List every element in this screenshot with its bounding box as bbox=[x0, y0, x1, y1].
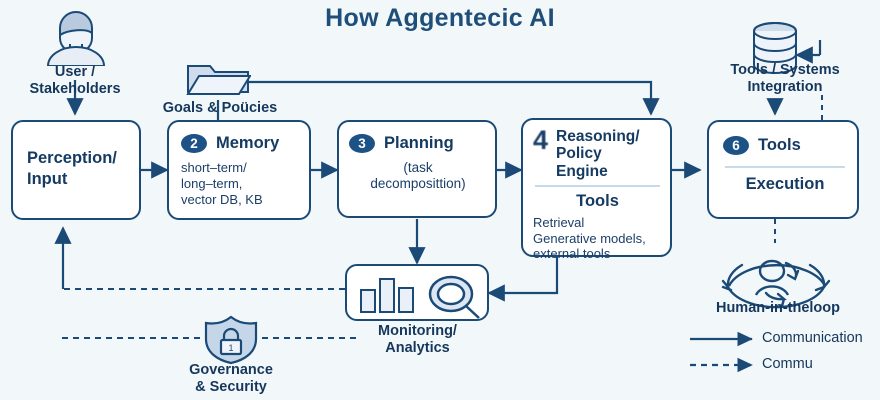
planning-badge: 3 bbox=[349, 134, 375, 153]
memory-title: Memory bbox=[216, 134, 279, 153]
tools-header: 6 Tools bbox=[723, 136, 847, 155]
integration-caption-line2: Integration bbox=[748, 79, 823, 95]
shield-lock-digit: 1 bbox=[228, 343, 233, 353]
tools-execution-box[interactable]: 6 Tools Execution bbox=[707, 120, 859, 219]
bar-chart-icon bbox=[359, 276, 417, 314]
monitoring-caption-line2: Analytics bbox=[385, 340, 449, 356]
user-avatar-icon bbox=[38, 4, 114, 66]
memory-box[interactable]: 2 Memory short–term/ long–term, vector D… bbox=[167, 120, 311, 220]
governance-caption-line2: & Security bbox=[195, 379, 267, 395]
integration-caption-line1: Tools / Systems bbox=[730, 62, 839, 78]
memory-badge: 2 bbox=[181, 134, 207, 153]
reasoning-sub-line2: Generative models, bbox=[533, 231, 646, 246]
reasoning-subtext: Retrieval Generative models, external to… bbox=[533, 215, 662, 263]
memory-header: 2 Memory bbox=[181, 134, 299, 153]
reasoning-sub-line1: Retrieval bbox=[533, 215, 584, 230]
perception-title-line1: Perception/ bbox=[27, 149, 117, 167]
planning-box[interactable]: 3 Planning (task decomposittion) bbox=[337, 120, 497, 218]
perception-input-box[interactable]: Perception/ Input bbox=[11, 120, 141, 220]
goals-caption: Goals & Poücies bbox=[155, 100, 285, 117]
planning-sub-line1: (task bbox=[403, 160, 432, 175]
perception-title-line2: Input bbox=[27, 170, 67, 188]
reasoning-title-line3: Engine bbox=[556, 163, 608, 180]
monitoring-analytics-box[interactable] bbox=[345, 264, 489, 321]
folder-icon bbox=[185, 60, 251, 100]
tools-badge: 6 bbox=[723, 136, 749, 155]
memory-sub-line1: short–term/ bbox=[181, 160, 247, 175]
reasoning-title-line1: Reasoning/ bbox=[556, 128, 640, 145]
monitoring-caption-line1: Monitoring/ bbox=[378, 323, 457, 339]
tools-section-title: Execution bbox=[723, 175, 847, 194]
perception-title: Perception/ Input bbox=[13, 122, 139, 189]
user-caption: User / Stakeholders bbox=[0, 64, 150, 98]
magnifier-icon bbox=[427, 272, 483, 322]
memory-sub-line3: vector DB, KB bbox=[181, 192, 263, 207]
planning-title: Planning bbox=[384, 134, 454, 153]
tools-divider bbox=[725, 166, 845, 168]
integration-caption: Tools / Systems Integration bbox=[700, 62, 870, 96]
reasoning-badge: 4 bbox=[533, 128, 548, 152]
monitoring-caption: Monitoring/ Analytics bbox=[345, 323, 490, 357]
reasoning-policy-engine-box[interactable]: 4 Reasoning/ Policy Engine Tools Retriev… bbox=[521, 118, 672, 257]
planning-header: 3 Planning bbox=[349, 134, 487, 153]
planning-sub-line2: decomposittion) bbox=[370, 176, 465, 191]
user-caption-line1: User / bbox=[55, 64, 95, 80]
reasoning-title-line2: Policy bbox=[556, 145, 602, 162]
user-caption-line2: Stakeholders bbox=[29, 81, 120, 97]
governance-caption-line1: Governance bbox=[189, 362, 273, 378]
memory-sub-line2: long–term, bbox=[181, 176, 242, 191]
planning-subtext: (task decomposittion) bbox=[349, 160, 487, 193]
human-loop-caption: Human-in-theloop bbox=[690, 300, 866, 317]
reasoning-divider bbox=[535, 185, 660, 187]
reasoning-sub-line3: external tools bbox=[533, 246, 610, 261]
shield-lock-icon: 1 bbox=[200, 315, 262, 365]
legend-solid-label: Communication bbox=[762, 330, 863, 346]
reasoning-section-title: Tools bbox=[533, 192, 662, 211]
memory-subtext: short–term/ long–term, vector DB, KB bbox=[181, 160, 299, 208]
tools-title: Tools bbox=[758, 136, 801, 155]
diagram-canvas: How Aggentecic AI bbox=[0, 0, 880, 400]
legend-dashed-label: Commu bbox=[762, 356, 813, 372]
reasoning-title: Reasoning/ Policy Engine bbox=[556, 128, 640, 180]
governance-caption: Governance & Security bbox=[150, 362, 312, 396]
